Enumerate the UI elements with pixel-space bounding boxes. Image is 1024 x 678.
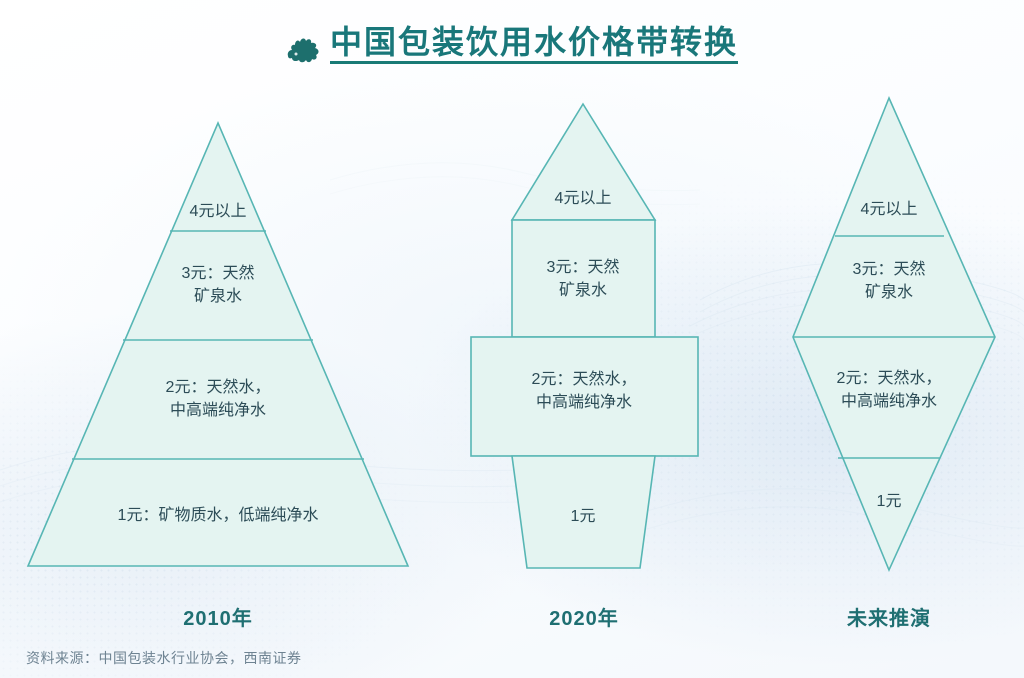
olive-2020-tier-4 [512,104,655,220]
olive-2020-tier-3 [512,220,655,337]
caption-column-2020: 2020年 [484,602,684,631]
caption-column-future: 未来推演 [789,602,989,631]
column-2020-shape [471,104,698,568]
infographic-canvas: 中国包装饮用水价格带转换 4元以 [0,0,1024,678]
column-2010-shape [28,123,408,566]
diamond-future [793,98,995,570]
source-note: 资料来源：中国包装水行业协会，西南证券 [26,648,302,668]
price-band-diagram [0,0,1024,678]
pyramid-2010 [28,123,408,566]
caption-column-2010: 2010年 [118,602,318,631]
olive-2020-tier-1 [512,456,655,568]
olive-2020-tier-2 [471,337,698,456]
column-future-shape [793,98,995,570]
